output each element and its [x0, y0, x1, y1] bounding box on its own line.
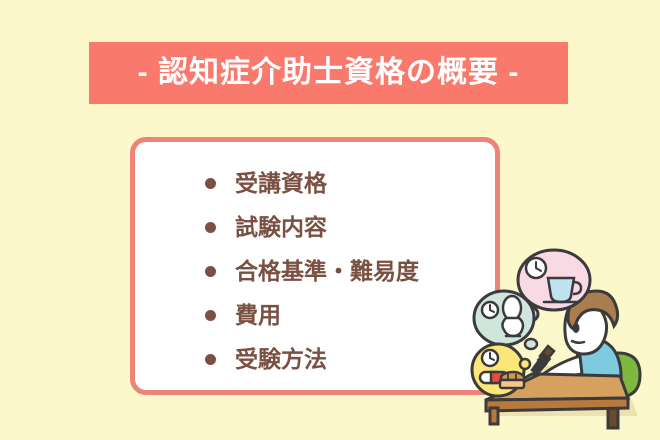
- list-item-label: 合格基準・難易度: [235, 260, 419, 283]
- bullet-icon: [205, 310, 216, 321]
- clock-icon: [482, 350, 498, 366]
- clock-icon: [526, 258, 546, 278]
- bullet-icon: [205, 266, 216, 277]
- clock-icon: [482, 302, 498, 318]
- page-title: - 認知症介助士資格の概要 -: [138, 58, 520, 88]
- list-item-label: 試験内容: [235, 216, 327, 239]
- person-studying-at-desk-illustration: [468, 248, 660, 440]
- toilet-thought-bubble: [474, 291, 537, 349]
- medicine-meal-thought-bubble: [472, 344, 530, 396]
- bread-icon: [500, 372, 524, 388]
- list-item: 試験内容: [135, 205, 495, 249]
- title-banner: - 認知症介助士資格の概要 -: [89, 42, 568, 104]
- topic-card: 受講資格 試験内容 合格基準・難易度 費用 受験方法: [130, 137, 500, 395]
- list-item: 受講資格: [135, 161, 495, 205]
- bullet-icon: [205, 178, 216, 189]
- topic-list: 受講資格 試験内容 合格基準・難易度 費用 受験方法: [135, 142, 495, 381]
- list-item: 費用: [135, 293, 495, 337]
- eye-icon: [573, 323, 580, 333]
- slide-canvas: - 認知症介助士資格の概要 - 受講資格 試験内容 合格基準・難易度 費用: [0, 0, 660, 440]
- list-item-label: 受験方法: [235, 348, 327, 371]
- list-item: 合格基準・難易度: [135, 249, 495, 293]
- toilet-icon: [502, 296, 523, 336]
- list-item: 受験方法: [135, 337, 495, 381]
- list-item-label: 費用: [235, 304, 281, 327]
- bullet-icon: [205, 222, 216, 233]
- bullet-icon: [205, 354, 216, 365]
- list-item-label: 受講資格: [235, 172, 327, 195]
